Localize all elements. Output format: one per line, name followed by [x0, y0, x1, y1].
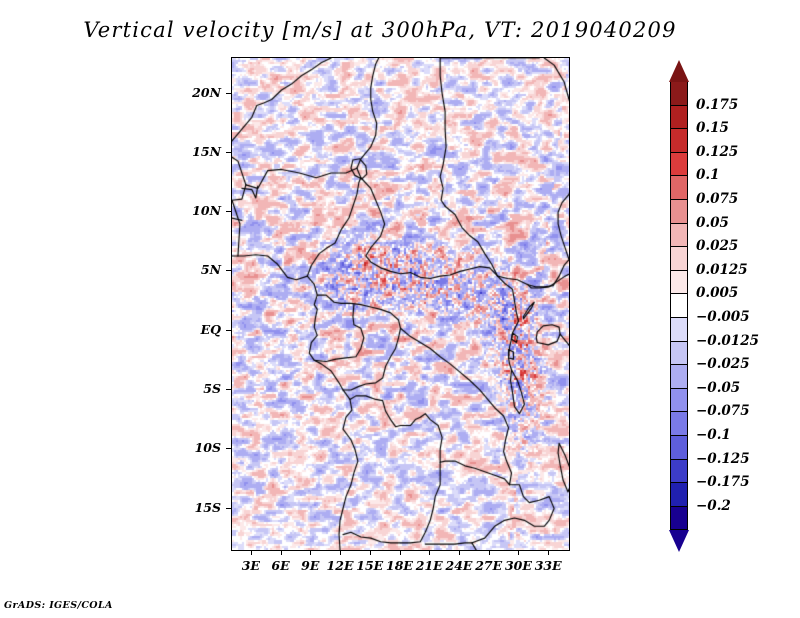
- longitude-tick: [281, 550, 282, 555]
- latitude-tick: [226, 152, 231, 153]
- longitude-tick: [340, 550, 341, 555]
- colorbar-tick-label: 0.05: [696, 215, 729, 231]
- colorbar-tick-label: 0.005: [696, 285, 738, 301]
- latitude-tick: [226, 389, 231, 390]
- longitude-tick: [400, 550, 401, 555]
- latitude-label: 15S: [179, 500, 221, 515]
- colorbar-tick-label: 0.125: [696, 144, 738, 160]
- latitude-tick: [226, 508, 231, 509]
- colorbar-tick-label: 0.15: [696, 120, 729, 136]
- colorbar-tick-label: 0.025: [696, 238, 738, 254]
- colorbar-segment: [670, 129, 688, 153]
- colorbar-segment: [670, 460, 688, 484]
- colorbar-segment: [670, 224, 688, 248]
- latitude-label: EQ: [179, 322, 221, 337]
- colorbar-segment: [670, 412, 688, 436]
- colorbar-tick-label: 0.0125: [696, 262, 748, 278]
- colorbar-tick-label: −0.025: [696, 356, 750, 372]
- latitude-label: 10N: [179, 203, 221, 218]
- latitude-label: 15N: [179, 144, 221, 159]
- colorbar-segment: [670, 436, 688, 460]
- colorbar-segment: [670, 342, 688, 366]
- longitude-tick: [459, 550, 460, 555]
- latitude-tick: [226, 93, 231, 94]
- colorbar-tick-label: −0.2: [696, 498, 731, 514]
- colorbar-tick-label: −0.1: [696, 427, 731, 443]
- colorbar-bottom-arrow: [669, 530, 689, 552]
- colorbar-segment: [670, 106, 688, 130]
- latitude-label: 20N: [179, 85, 221, 100]
- colorbar-tick-label: −0.0125: [696, 333, 759, 349]
- colorbar-tick-label: −0.125: [696, 451, 750, 467]
- attribution-footer: GrADS: IGES/COLA: [4, 600, 113, 611]
- colorbar-segment: [670, 247, 688, 271]
- longitude-label: 33E: [528, 558, 568, 573]
- colorbar-tick-label: −0.075: [696, 403, 750, 419]
- colorbar-segment: [670, 483, 688, 507]
- colorbar-segment: [670, 271, 688, 295]
- colorbar-segment: [670, 153, 688, 177]
- colorbar-tick-label: −0.05: [696, 380, 740, 396]
- latitude-label: 10S: [179, 440, 221, 455]
- page-title: Vertical velocity [m/s] at 300hPa, VT: 2…: [0, 18, 760, 42]
- colorbar-segment: [670, 200, 688, 224]
- colorbar-segment: [670, 389, 688, 413]
- longitude-tick: [370, 550, 371, 555]
- colorbar-top-arrow: [669, 60, 689, 82]
- latitude-tick: [226, 330, 231, 331]
- map-plot-area: [231, 57, 570, 551]
- longitude-tick: [489, 550, 490, 555]
- latitude-tick: [226, 448, 231, 449]
- colorbar-segment: [670, 82, 688, 106]
- longitude-tick: [518, 550, 519, 555]
- colorbar-tick-label: 0.175: [696, 97, 738, 113]
- longitude-tick: [429, 550, 430, 555]
- longitude-tick: [548, 550, 549, 555]
- vertical-velocity-heatmap: [232, 58, 569, 550]
- latitude-label: 5S: [179, 381, 221, 396]
- colorbar: [670, 60, 688, 552]
- longitude-tick: [310, 550, 311, 555]
- colorbar-tick-label: −0.175: [696, 474, 750, 490]
- colorbar-segment: [670, 365, 688, 389]
- longitude-tick: [251, 550, 252, 555]
- latitude-tick: [226, 211, 231, 212]
- colorbar-tick-label: −0.005: [696, 309, 750, 325]
- colorbar-segment: [670, 176, 688, 200]
- colorbar-segment: [670, 294, 688, 318]
- colorbar-tick-label: 0.075: [696, 191, 738, 207]
- latitude-label: 5N: [179, 262, 221, 277]
- colorbar-segment: [670, 507, 688, 531]
- latitude-tick: [226, 270, 231, 271]
- colorbar-segment: [670, 318, 688, 342]
- colorbar-tick-label: 0.1: [696, 167, 720, 183]
